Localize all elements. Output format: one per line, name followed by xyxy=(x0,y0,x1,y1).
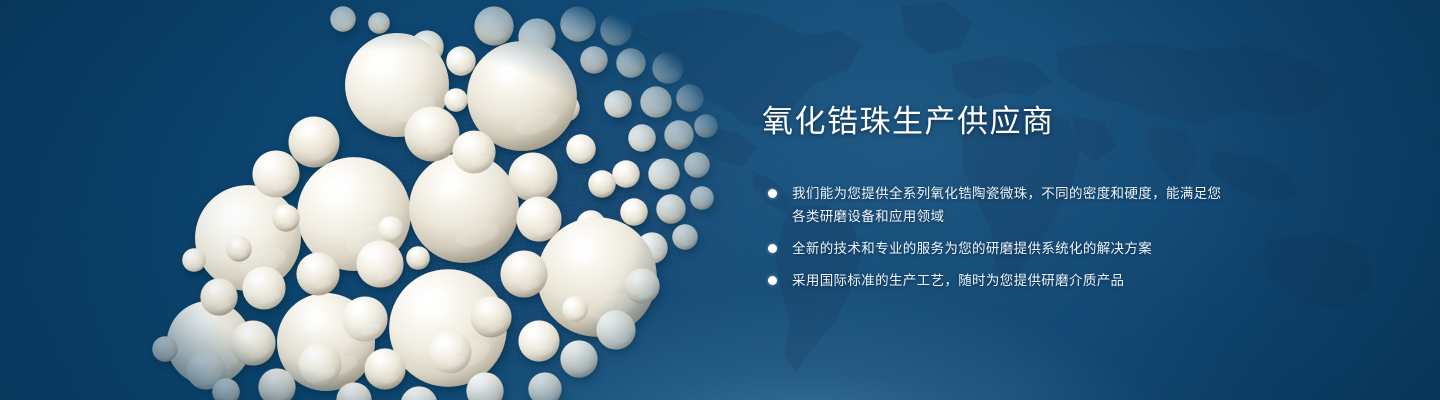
bullet-text: 我们能为您提供全系列氧化锆陶瓷微珠，不同的密度和硬度，能满足您各类研磨设备和应用… xyxy=(792,182,1232,228)
bullet-dot-icon xyxy=(768,276,777,285)
bullet-text: 全新的技术和专业的服务为您的研磨提供系统化的解决方案 xyxy=(792,237,1232,260)
bullet-dot-icon xyxy=(768,244,777,253)
bullet-text: 采用国际标准的生产工艺，随时为您提供研磨介质产品 xyxy=(792,269,1232,292)
list-item: 我们能为您提供全系列氧化锆陶瓷微珠，不同的密度和硬度，能满足您各类研磨设备和应用… xyxy=(762,182,1232,228)
hero-banner: 氧化锆珠生产供应商 我们能为您提供全系列氧化锆陶瓷微珠，不同的密度和硬度，能满足… xyxy=(0,0,1440,400)
list-item: 采用国际标准的生产工艺，随时为您提供研磨介质产品 xyxy=(762,269,1232,292)
banner-content: 氧化锆珠生产供应商 我们能为您提供全系列氧化锆陶瓷微珠，不同的密度和硬度，能满足… xyxy=(762,104,1232,292)
banner-feature-list: 我们能为您提供全系列氧化锆陶瓷微珠，不同的密度和硬度，能满足您各类研磨设备和应用… xyxy=(762,182,1232,292)
bullet-dot-icon xyxy=(768,189,777,198)
zirconia-beads-image xyxy=(0,0,760,400)
list-item: 全新的技术和专业的服务为您的研磨提供系统化的解决方案 xyxy=(762,237,1232,260)
banner-headline: 氧化锆珠生产供应商 xyxy=(762,104,1232,140)
